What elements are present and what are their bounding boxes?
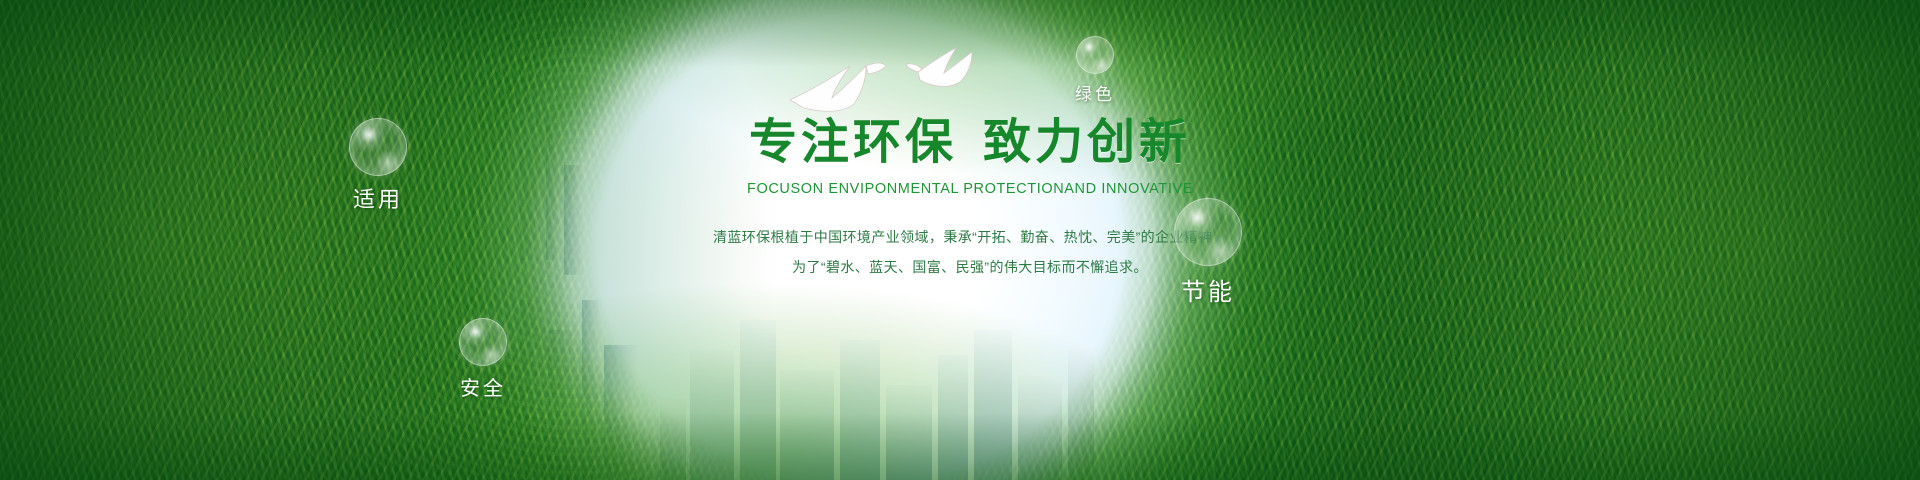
feature-lvse: 绿色 [1040,36,1150,105]
page-title: 专注环保致力创新 [620,118,1320,169]
subheadline: FOCUSON ENVIPONMENTAL PROTECTIONAND INNO… [620,181,1320,197]
feature-jieneng: 节能 [1138,198,1278,307]
headline-part-2: 致力创新 [983,116,1191,169]
hero-banner: 专注环保致力创新 FOCUSON ENVIPONMENTAL PROTECTIO… [0,0,1920,480]
bubble-icon [349,118,407,176]
bubble-label-shiyong: 适用 [318,182,438,214]
bubble-icon [1174,198,1242,266]
headline-part-1: 专注环保 [749,116,957,169]
bubble-label-anquan: 安全 [428,372,538,401]
feature-anquan: 安全 [428,318,538,401]
feature-shiyong: 适用 [318,118,438,214]
bubble-label-lvse: 绿色 [1040,80,1150,105]
bubble-label-jieneng: 节能 [1138,272,1278,307]
bubble-icon [459,318,507,366]
seagull-icon [770,18,1010,118]
bubble-icon [1076,36,1114,74]
